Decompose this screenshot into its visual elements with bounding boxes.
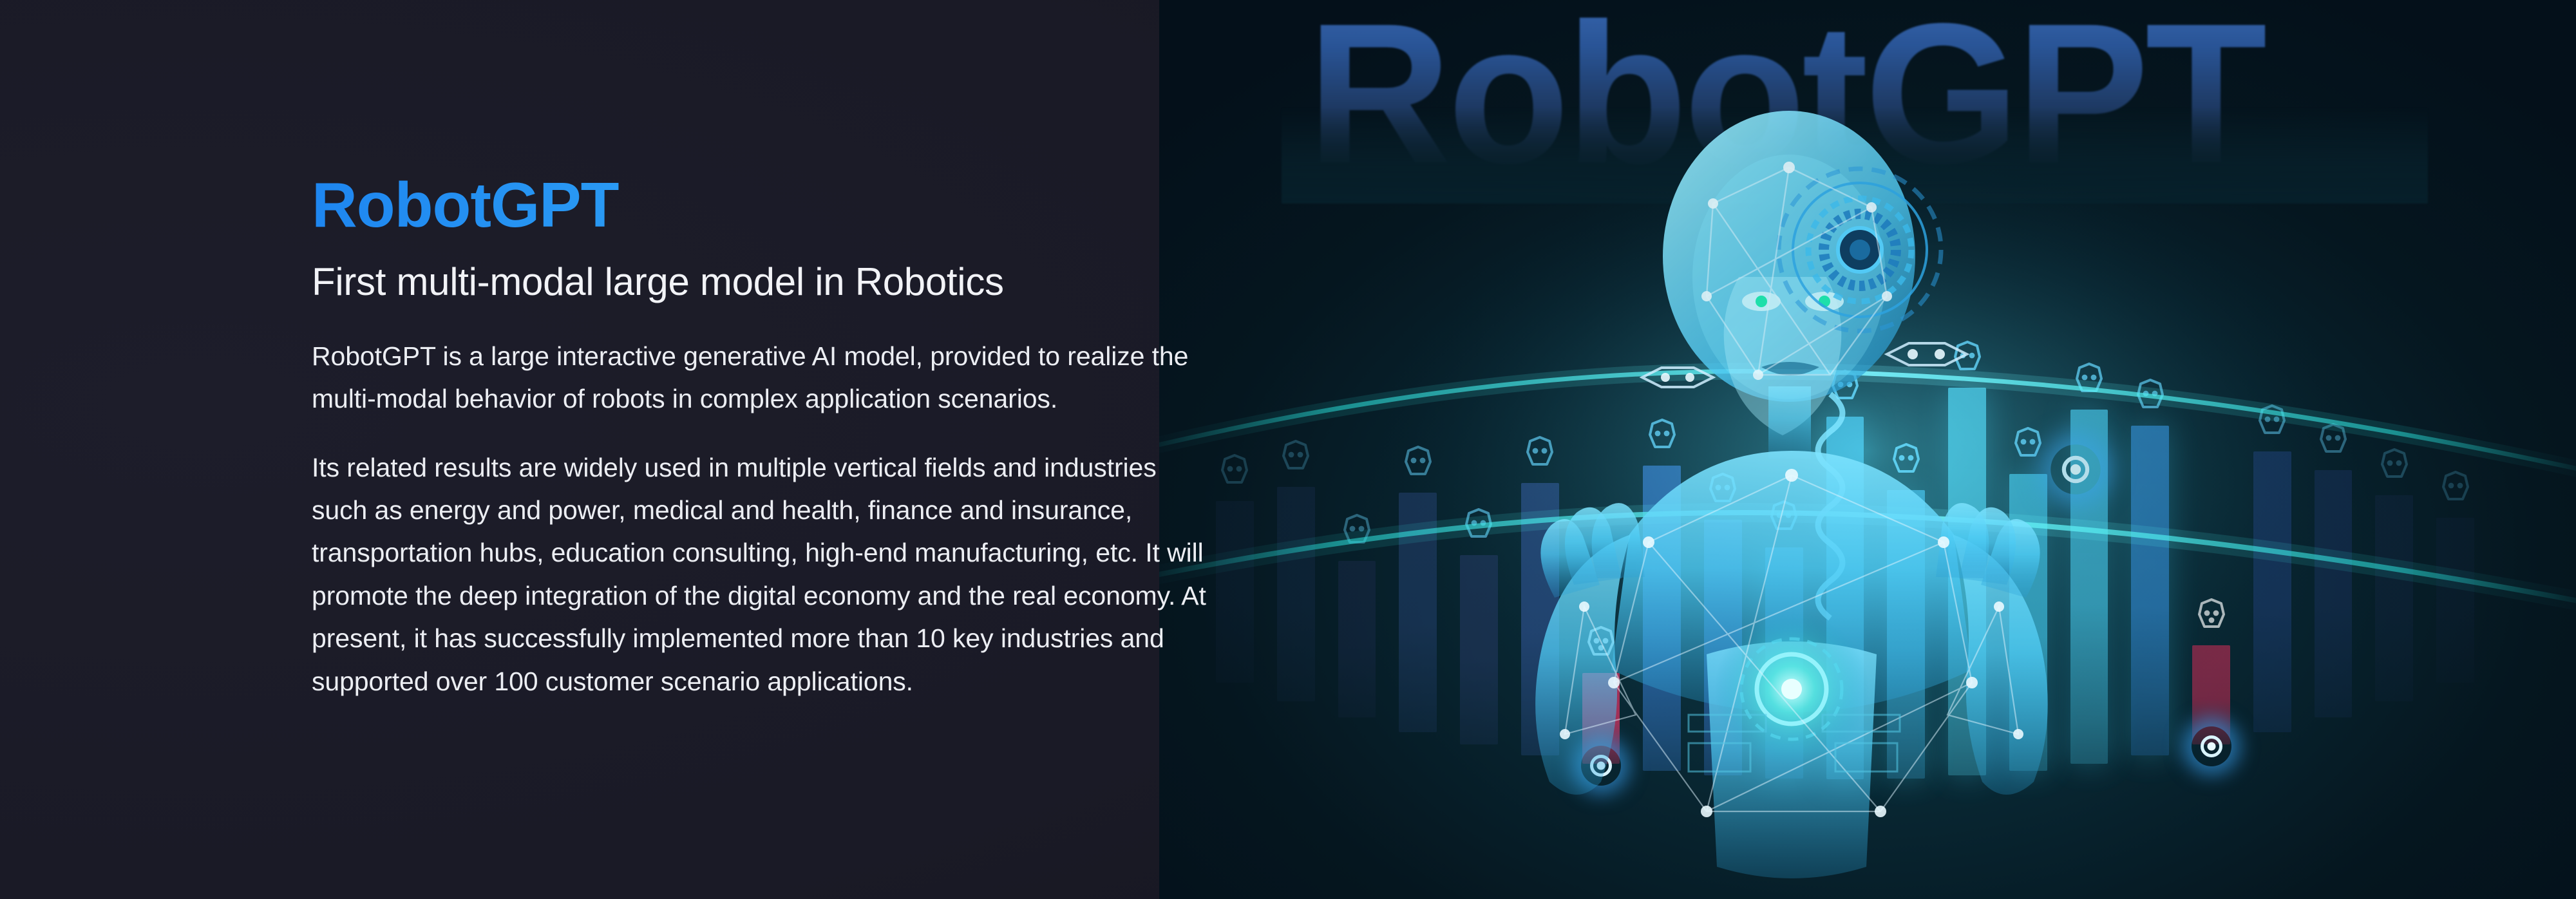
- robot-hologram-figure: [1436, 84, 2145, 899]
- hero-paragraph-1: RobotGPT is a large interactive generati…: [312, 335, 1207, 421]
- hero-tagline: First multi-modal large model in Robotic…: [312, 259, 1213, 305]
- robotgpt-hero-banner: RobotGPT: [0, 0, 2576, 899]
- hero-paragraph-2: Its related results are widely used in m…: [312, 446, 1207, 703]
- page-title: RobotGPT: [312, 170, 1213, 241]
- hero-artwork: RobotGPT: [1159, 0, 2576, 899]
- hero-copy: RobotGPT First multi-modal large model i…: [312, 170, 1213, 703]
